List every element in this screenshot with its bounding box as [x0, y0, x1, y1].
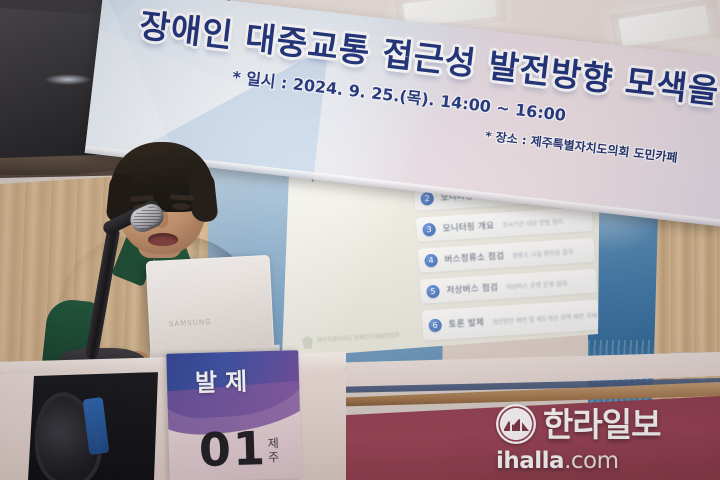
toc-desc: 저상버스 운행 운영 실태: [506, 278, 567, 291]
toc-number-badge: 5: [426, 284, 440, 298]
toc-label: 버스정류소 점검: [444, 249, 504, 265]
placard-subtitle: 제주: [265, 437, 283, 465]
watermark-english-rest: .com: [564, 448, 618, 474]
watermark-english-text: ihalla.com: [496, 448, 708, 474]
toc-number-badge: 3: [422, 222, 436, 236]
watermark-top-row: 한라일보: [496, 404, 708, 444]
toc-number-badge: 6: [428, 318, 442, 332]
slide-footer-logo: 제주특별자치도 장애인단체총연합회: [302, 330, 400, 349]
toc-number-badge: 4: [424, 253, 438, 267]
mouth: [148, 233, 178, 246]
slide-footer-logo-text: 제주특별자치도 장애인단체총연합회: [317, 333, 400, 346]
emblem-icon: [302, 335, 314, 349]
placard-number: 01: [198, 425, 267, 473]
list-item: 4 버스정류소 점검 정류소 시설 편의성 결과: [418, 238, 595, 273]
laptop-lid[interactable]: SAMSUNG: [146, 255, 275, 355]
list-item: 5 저상버스 점검 저상버스 운행 운영 실태: [420, 269, 597, 304]
toc-number-badge: 2: [420, 191, 434, 205]
speaker-placard: 발제 01 제주: [166, 350, 302, 480]
watermark-english-bold: ihalla: [496, 448, 564, 474]
placard-role-label: 발제: [195, 361, 256, 398]
toc-desc: 조사기간 대상 방법 정리: [502, 216, 563, 229]
monitor-reflection: [44, 74, 92, 85]
list-item: 3 모니터링 개요 조사기간 대상 방법 정리: [416, 207, 593, 242]
watermark-korean-text: 한라일보: [543, 408, 660, 441]
mountain-logo-icon: [496, 404, 536, 444]
toc-desc: 개선방안 제언 및 제도개선 정책 제안 과제: [492, 310, 598, 326]
toc-label: 저상버스 점검: [446, 281, 498, 296]
toc-label: 모니터링 개요: [442, 219, 494, 234]
toc-desc: 정류소 시설 편의성 결과: [512, 247, 573, 260]
photo-scene: 제주특별자치도의회 JEJU Contents 목차 1 모니터링 배경 장애인…: [0, 0, 720, 480]
laptop-brand-label: SAMSUNG: [169, 318, 212, 328]
eye-right: [172, 203, 190, 210]
watermark: 한라일보 ihalla.com: [496, 404, 708, 470]
toc-label: 토론 발제: [448, 316, 484, 330]
list-item: 6 토론 발제 개선방안 제언 및 제도개선 정책 제안 과제: [422, 300, 600, 341]
banner-venue-line: * 장소 : 제주특별자치도의회 도민카페: [484, 127, 678, 166]
